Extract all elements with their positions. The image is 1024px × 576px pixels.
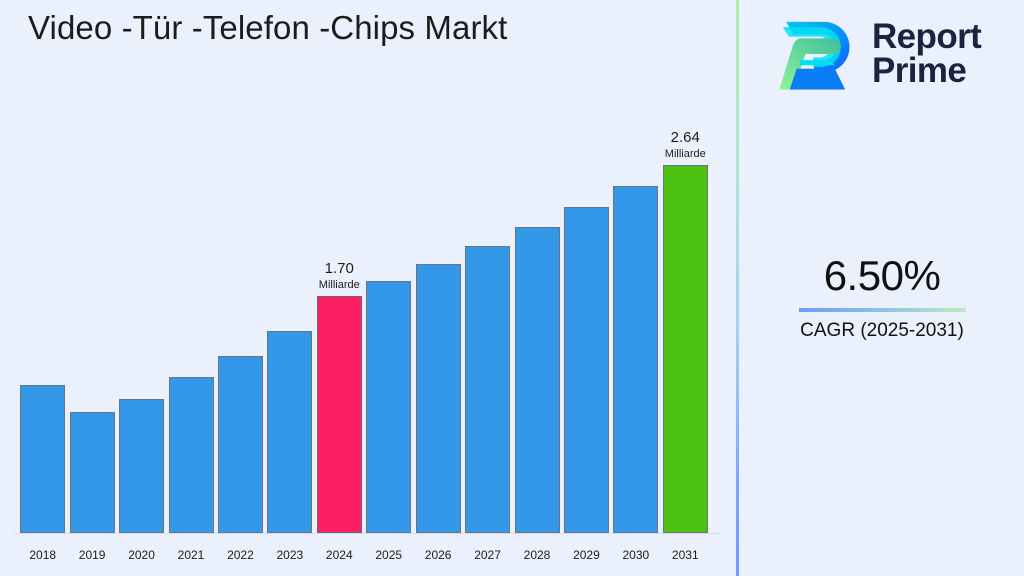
x-tick-2023: 2023: [276, 548, 303, 562]
cagr-caption: CAGR (2025-2031): [740, 319, 1024, 343]
bar-2019[interactable]: [70, 412, 115, 533]
bar-2028[interactable]: [515, 227, 560, 533]
bar-group: 2022: [218, 296, 263, 533]
bar-group: 2.64Milliarde2031: [663, 105, 708, 533]
bar-group: 2028: [515, 167, 560, 533]
bar-2018[interactable]: [20, 385, 65, 533]
bar-group: 2026: [416, 204, 461, 533]
bar-2024[interactable]: [317, 296, 362, 533]
x-tick-2022: 2022: [227, 548, 254, 562]
bar-2021[interactable]: [169, 377, 214, 533]
x-tick-2019: 2019: [79, 548, 106, 562]
cagr-divider-rule: [799, 308, 966, 312]
bar-value-number-2024: 1.70: [319, 260, 360, 278]
x-tick-2024: 2024: [326, 548, 353, 562]
bar-value-number-2031: 2.64: [665, 129, 706, 147]
x-tick-2029: 2029: [573, 548, 600, 562]
cagr-panel: 6.50% CAGR (2025-2031): [740, 250, 1024, 343]
bar-2030[interactable]: [613, 186, 658, 533]
panel-divider: [736, 0, 739, 576]
bar-group: 2025: [366, 221, 411, 533]
bar-group: 2018: [20, 325, 65, 533]
bar-group: 2020: [119, 339, 164, 533]
x-tick-2018: 2018: [29, 548, 56, 562]
bar-group: 2023: [267, 271, 312, 533]
bar-group: 2029: [564, 147, 609, 533]
bar-chart: 2018201920202021202220231.70Milliarde202…: [0, 100, 736, 576]
x-tick-2025: 2025: [375, 548, 402, 562]
bar-value-label-2031: 2.64Milliarde: [665, 129, 706, 161]
bar-group: 2030: [613, 126, 658, 533]
bar-group: 1.70Milliarde2024: [317, 236, 362, 533]
infographic-root: Video -Tür -Telefon -Chips Markt Report: [0, 0, 1024, 576]
brand-word-prime: Prime: [872, 54, 981, 88]
x-tick-2026: 2026: [425, 548, 452, 562]
brand-logo: Report Prime: [770, 10, 1010, 98]
cagr-value: 6.50%: [740, 250, 1024, 302]
bar-value-label-2024: 1.70Milliarde: [319, 260, 360, 292]
bar-2029[interactable]: [564, 207, 609, 533]
bar-group: 2027: [465, 186, 510, 533]
bar-group: 2019: [70, 352, 115, 533]
bar-2022[interactable]: [218, 356, 263, 533]
bar-value-unit-2024: Milliarde: [319, 278, 360, 292]
x-tick-2030: 2030: [622, 548, 649, 562]
brand-wordmark: Report Prime: [872, 20, 981, 89]
x-tick-2028: 2028: [524, 548, 551, 562]
x-tick-2031: 2031: [672, 548, 699, 562]
x-tick-2027: 2027: [474, 548, 501, 562]
bar-2026[interactable]: [416, 264, 461, 533]
bars-layer: 2018201920202021202220231.70Milliarde202…: [0, 100, 736, 576]
report-prime-logo-mark: [770, 15, 858, 93]
x-tick-2021: 2021: [178, 548, 205, 562]
bar-group: 2021: [169, 317, 214, 533]
bar-value-unit-2031: Milliarde: [665, 147, 706, 161]
bar-2020[interactable]: [119, 399, 164, 533]
x-tick-2020: 2020: [128, 548, 155, 562]
bar-2025[interactable]: [366, 281, 411, 533]
bar-2031[interactable]: [663, 165, 708, 533]
bar-2023[interactable]: [267, 331, 312, 533]
page-title: Video -Tür -Telefon -Chips Markt: [28, 8, 507, 48]
bar-2027[interactable]: [465, 246, 510, 533]
brand-word-report: Report: [872, 20, 981, 54]
